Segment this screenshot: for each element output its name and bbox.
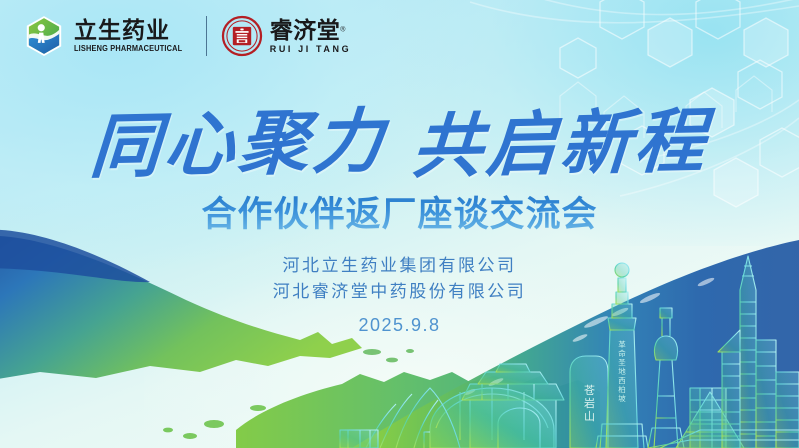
- plaza-steps: [648, 430, 799, 448]
- lisheng-en-name: LISHENG PHARMACEUTICAL: [74, 45, 182, 53]
- dome-stadium: [424, 388, 554, 448]
- event-date: 2025.9.8: [0, 315, 799, 336]
- lisheng-cn-name: 立生药业: [74, 19, 192, 42]
- logo-bar: 立生药业 LISHENG PHARMACEUTICAL: [22, 14, 351, 58]
- organization-names: 河北立生药业集团有限公司 河北睿济堂中药股份有限公司: [0, 253, 799, 305]
- lisheng-hexagon-mark: [22, 14, 66, 58]
- monument-stone: [570, 356, 608, 448]
- ruijitang-cn-name: 睿济堂: [270, 17, 341, 43]
- tower-label: 革命圣地西柏坡: [617, 339, 626, 403]
- organization-line: 河北立生药业集团有限公司: [0, 253, 799, 279]
- event-date-text: 2025.9.8: [358, 315, 440, 335]
- logo-divider: [206, 16, 207, 56]
- ruijitang-en-name: RUI JI TANG: [270, 45, 351, 54]
- headline-part-1: 同心聚力: [87, 85, 390, 192]
- monument-label: 苍岩山: [583, 384, 596, 423]
- ruijitang-wordmark: 睿济堂® RUI JI TANG: [270, 19, 351, 54]
- headline-part-2: 共启新程: [409, 85, 712, 192]
- lisheng-wordmark: 立生药业 LISHENG PHARMACEUTICAL: [74, 19, 192, 53]
- organization-line: 河北睿济堂中药股份有限公司: [0, 279, 799, 305]
- ruijitang-round-seal: [221, 15, 263, 57]
- city-gate-pagoda: [462, 364, 564, 448]
- midrise-buildings: [690, 388, 726, 448]
- headline: 同心聚力共启新程: [0, 88, 799, 189]
- lisheng-logo[interactable]: 立生药业 LISHENG PHARMACEUTICAL: [22, 14, 192, 58]
- mountain-range: [366, 388, 460, 448]
- mid-brush-stroke: [236, 372, 600, 448]
- subtitle-text: 合作伙伴返厂座谈交流会: [201, 186, 597, 237]
- pyramid-building: [676, 392, 744, 448]
- low-buildings-left: [340, 430, 378, 448]
- subtitle: 合作伙伴返厂座谈交流会: [0, 186, 799, 237]
- poster-canvas: 苍岩山 革命圣地西柏坡: [0, 0, 799, 448]
- ruijitang-logo[interactable]: 睿济堂® RUI JI TANG: [221, 15, 351, 57]
- registered-trademark-icon: ®: [340, 26, 345, 33]
